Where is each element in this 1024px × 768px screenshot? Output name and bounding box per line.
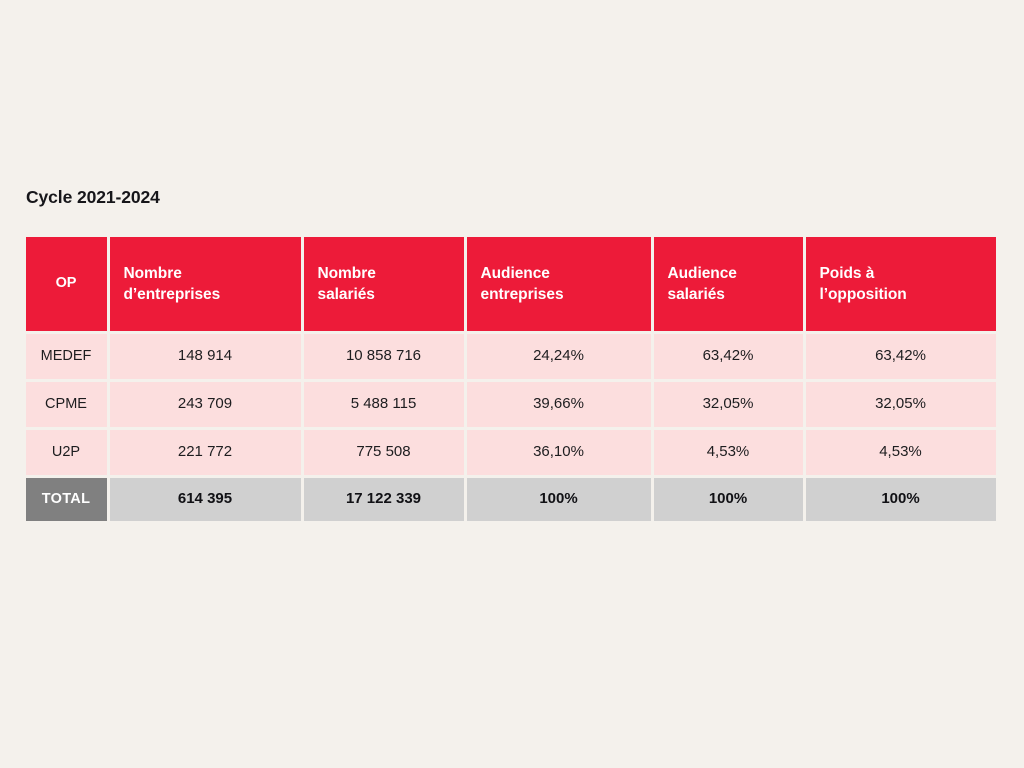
cell-nombre-entreprises: 221 772: [110, 430, 301, 475]
page-root: Cycle 2021-2024 OP Nombre d’entreprises …: [0, 0, 1024, 768]
column-header-audience-salaries: Audience salariés: [654, 237, 803, 331]
cell-audience-salaries: 4,53%: [654, 430, 803, 475]
cell-total-poids-opposition: 100%: [806, 478, 996, 521]
column-header-nombre-salaries-line1: Nombre: [318, 263, 450, 284]
cell-nombre-salaries: 775 508: [304, 430, 464, 475]
column-header-audience-entreprises: Audience entreprises: [467, 237, 651, 331]
column-header-nombre-salaries-line2: salariés: [318, 284, 450, 305]
column-header-audience-entreprises-line2: entreprises: [481, 284, 637, 305]
cell-total-audience-salaries: 100%: [654, 478, 803, 521]
cell-op: MEDEF: [26, 334, 107, 379]
column-header-audience-salaries-line1: Audience: [668, 263, 789, 284]
cell-total-audience-entreprises: 100%: [467, 478, 651, 521]
cell-total-nombre-entreprises: 614 395: [110, 478, 301, 521]
cell-op: U2P: [26, 430, 107, 475]
cell-total-label: TOTAL: [26, 478, 107, 521]
cell-nombre-entreprises: 243 709: [110, 382, 301, 427]
cell-audience-salaries: 63,42%: [654, 334, 803, 379]
column-header-poids-opposition-line2: l’opposition: [820, 284, 982, 305]
cell-nombre-salaries: 10 858 716: [304, 334, 464, 379]
table-header: OP Nombre d’entreprises Nombre salariés …: [26, 237, 996, 331]
column-header-poids-opposition-line1: Poids à: [820, 263, 982, 284]
audience-table: OP Nombre d’entreprises Nombre salariés …: [23, 234, 999, 524]
column-header-op-line1: OP: [26, 273, 107, 294]
cell-audience-salaries: 32,05%: [654, 382, 803, 427]
column-header-op: OP: [26, 237, 107, 331]
table-row: MEDEF 148 914 10 858 716 24,24% 63,42% 6…: [26, 334, 996, 379]
column-header-nombre-salaries: Nombre salariés: [304, 237, 464, 331]
cell-nombre-salaries: 5 488 115: [304, 382, 464, 427]
cell-audience-entreprises: 39,66%: [467, 382, 651, 427]
cell-poids-opposition: 32,05%: [806, 382, 996, 427]
cell-poids-opposition: 63,42%: [806, 334, 996, 379]
table-header-row: OP Nombre d’entreprises Nombre salariés …: [26, 237, 996, 331]
column-header-nombre-entreprises-line1: Nombre: [124, 263, 287, 284]
cell-audience-entreprises: 24,24%: [467, 334, 651, 379]
cell-total-nombre-salaries: 17 122 339: [304, 478, 464, 521]
table-total-row: TOTAL 614 395 17 122 339 100% 100% 100%: [26, 478, 996, 521]
cell-audience-entreprises: 36,10%: [467, 430, 651, 475]
table-row: U2P 221 772 775 508 36,10% 4,53% 4,53%: [26, 430, 996, 475]
column-header-audience-entreprises-line1: Audience: [481, 263, 637, 284]
table-body: MEDEF 148 914 10 858 716 24,24% 63,42% 6…: [26, 334, 996, 521]
cell-nombre-entreprises: 148 914: [110, 334, 301, 379]
column-header-nombre-entreprises-line2: d’entreprises: [124, 284, 287, 305]
column-header-poids-opposition: Poids à l’opposition: [806, 237, 996, 331]
cell-op: CPME: [26, 382, 107, 427]
table-row: CPME 243 709 5 488 115 39,66% 32,05% 32,…: [26, 382, 996, 427]
column-header-audience-salaries-line2: salariés: [668, 284, 789, 305]
page-title: Cycle 2021-2024: [26, 186, 160, 208]
cell-poids-opposition: 4,53%: [806, 430, 996, 475]
column-header-nombre-entreprises: Nombre d’entreprises: [110, 237, 301, 331]
